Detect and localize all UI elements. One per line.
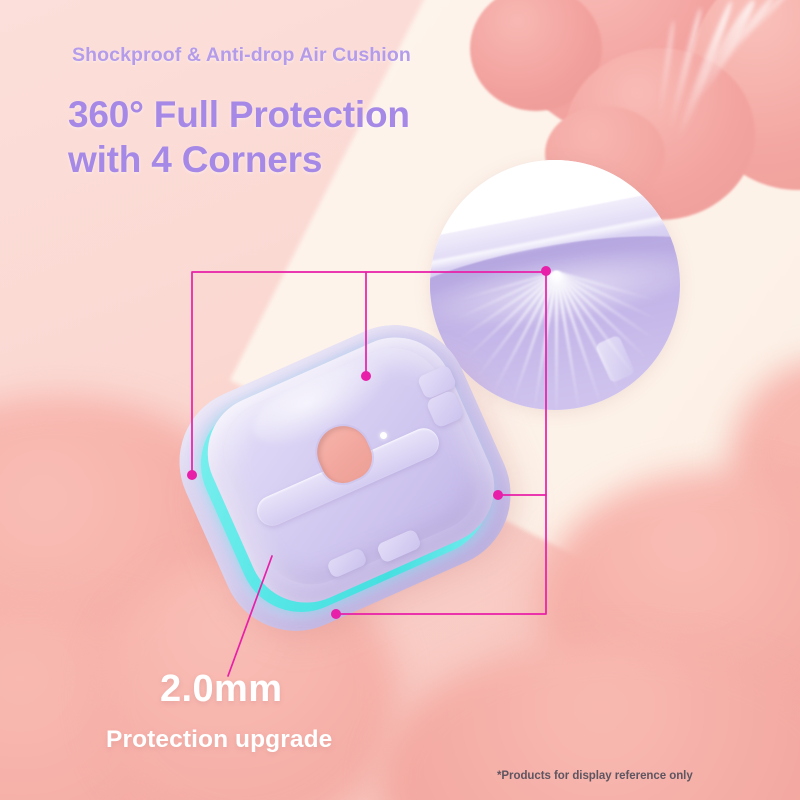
light-ray bbox=[555, 272, 558, 410]
light-ray bbox=[555, 271, 637, 379]
light-ray bbox=[556, 271, 657, 341]
thickness-caption: Protection upgrade bbox=[106, 726, 332, 754]
airpods-case bbox=[192, 340, 522, 630]
page-title: 360° Full Protection with 4 Corners bbox=[68, 92, 410, 182]
headline-line-2: with 4 Corners bbox=[68, 137, 410, 182]
thickness-value: 2.0mm bbox=[160, 668, 282, 711]
headline-line-1: 360° Full Protection bbox=[68, 92, 410, 137]
subtitle-text: Shockproof & Anti-drop Air Cushion bbox=[72, 44, 411, 67]
disclaimer-text: *Products for display reference only bbox=[497, 770, 693, 782]
product-feature-image: Shockproof & Anti-drop Air Cushion 360° … bbox=[0, 0, 800, 800]
case-specular-dot bbox=[380, 432, 387, 439]
